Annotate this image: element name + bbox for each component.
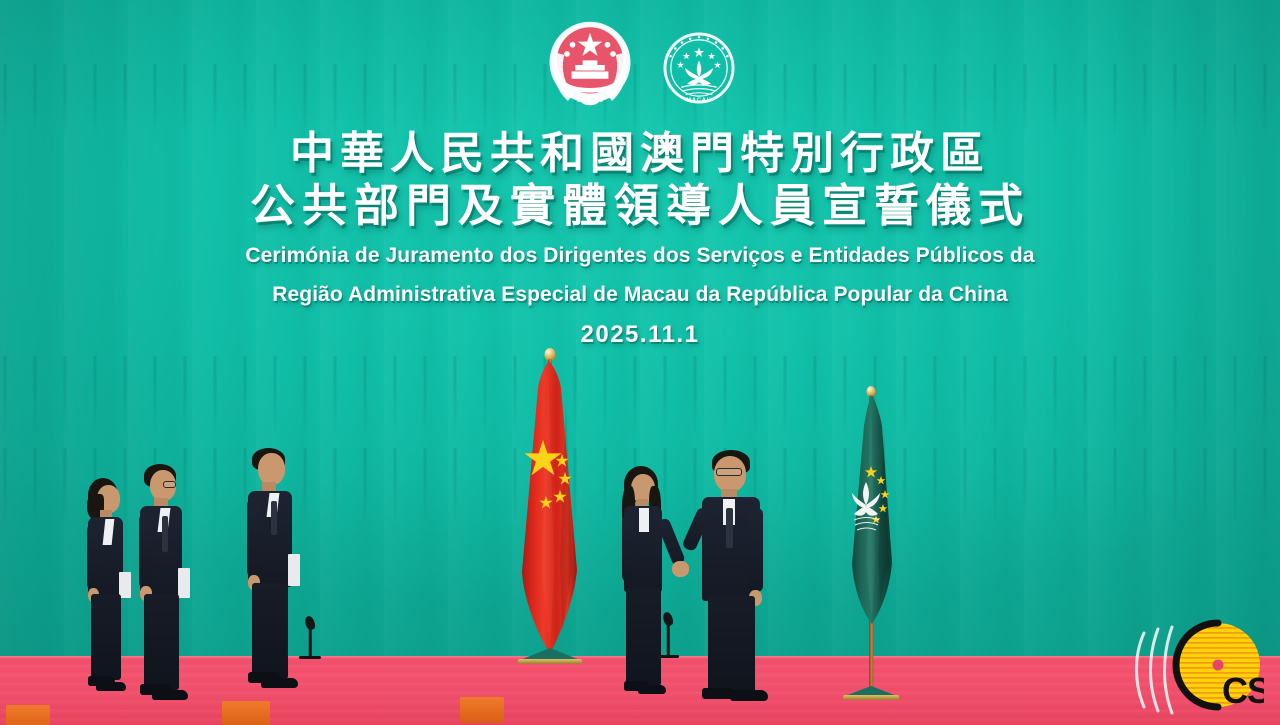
arm-near [87,524,99,590]
legs [91,594,121,680]
flag-china-cloth [498,362,602,662]
glasses-icon [716,468,742,476]
macau-sar-emblem-icon: MACAU [662,31,736,105]
prc-national-emblem-icon [544,18,636,112]
stage-marker-block [6,705,50,725]
legs [708,596,755,694]
hand-handshake [672,561,689,577]
svg-text:CS: CS [1222,670,1264,711]
ceremony-photo: MACAU 中華人民共和國澳門特別行政區 公共部門及實體領導人員宣誓儀式 Cer… [0,0,1280,725]
flag-macau-cloth [826,396,916,628]
shirt-collar [639,508,649,532]
arm-far [748,508,763,592]
legs [144,594,179,690]
necktie [271,501,277,535]
legs [626,588,661,686]
emblem-row: MACAU [0,18,1280,112]
document [178,568,190,598]
banner-chinese-line-1: 中華人民共和國澳門特別行政區 [0,128,1280,180]
official-4 [612,466,684,704]
banner-date: 2025.11.1 [0,319,1280,351]
stage-marker-block [222,701,270,725]
gcs-logo: CS GCS [1126,607,1264,719]
stage-marker-block [460,697,504,723]
official-3 [240,448,312,694]
legs [252,583,288,679]
banner-portuguese-line-1: Cerimónia de Juramento dos Dirigentes do… [0,241,1280,271]
flag-base-plate [518,659,582,664]
flag-macau [826,386,916,670]
arm-far [622,516,634,582]
official-2 [132,464,202,702]
banner-chinese-line-2: 公共部門及實體領導人員宣誓儀式 [0,180,1280,232]
document [119,572,131,598]
shoe [261,678,298,688]
document [288,554,300,586]
necktie [162,516,168,552]
shoe [730,690,768,701]
head [258,453,285,485]
glasses-icon [163,481,176,488]
necktie [726,508,733,548]
shoe [638,685,666,694]
shoe [96,682,126,691]
presiding-official [692,450,778,706]
arm-near [139,514,153,588]
flag-base-plate [843,695,899,700]
official-1 [78,478,140,700]
svg-text:MACAU: MACAU [686,98,711,104]
banner-portuguese-line-2: Região Administrativa Especial de Macau … [0,280,1280,310]
arm-near [247,499,261,577]
flag-china [498,348,602,670]
shoe [152,690,188,700]
banner-text-block: 中華人民共和國澳門特別行政區 公共部門及實體領導人員宣誓儀式 Cerimónia… [0,128,1280,351]
